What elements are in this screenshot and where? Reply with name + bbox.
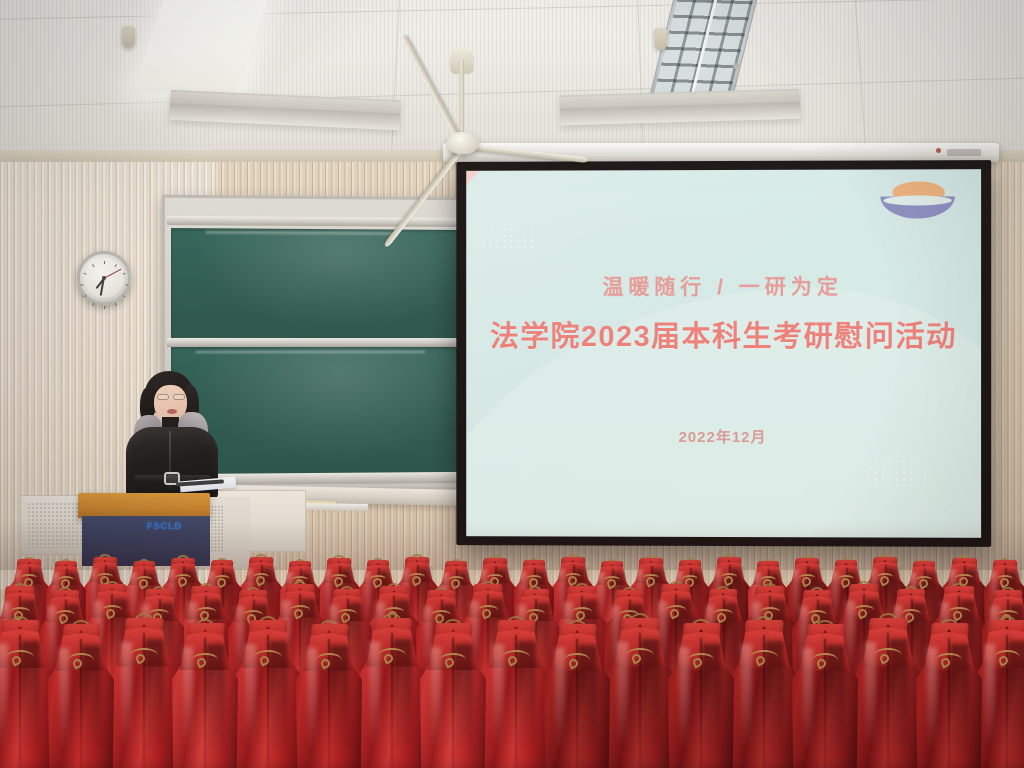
gift-bag xyxy=(296,630,362,768)
gift-bag-highlight xyxy=(679,647,690,750)
gift-bag xyxy=(792,630,858,768)
gift-bag xyxy=(606,624,674,768)
gift-bag xyxy=(854,624,922,768)
presentation-slide: 温暖随行 / 一研为定 法学院2023届本科生考研慰问活动 2022年12月 xyxy=(466,169,981,538)
sprinkler-head-icon xyxy=(733,63,739,69)
gift-bag xyxy=(234,626,302,768)
clock-tick xyxy=(125,285,128,286)
slide-date: 2022年12月 xyxy=(466,426,981,448)
gift-bag xyxy=(730,626,798,768)
gift-bag-highlight xyxy=(431,647,442,750)
gift-bag-highlight xyxy=(183,647,194,750)
gift-bag-display xyxy=(0,520,1024,768)
wall-clock xyxy=(77,251,131,305)
blackboard-rail xyxy=(167,338,466,347)
ceiling-speaker xyxy=(654,28,667,50)
status-dot xyxy=(936,148,941,153)
presenter-glasses-right xyxy=(173,394,185,400)
gift-bag xyxy=(420,629,486,768)
gift-bag-highlight xyxy=(927,647,938,750)
slide-dot-pattern xyxy=(865,458,927,488)
slide-subtitle: 温暖随行 / 一研为定 xyxy=(466,271,981,302)
gift-bag xyxy=(172,629,238,768)
clock-second-hand xyxy=(104,269,121,279)
chalk-dust-smudge xyxy=(195,351,425,353)
gift-bag xyxy=(482,626,550,768)
clock-tick xyxy=(104,261,105,264)
gift-bag-highlight xyxy=(555,648,566,750)
clock-tick xyxy=(122,273,125,275)
podium-top-surface xyxy=(78,493,210,518)
gift-bag xyxy=(358,624,426,768)
clock-tick xyxy=(104,306,105,309)
gift-bag xyxy=(110,624,178,768)
slide-dot-pattern xyxy=(480,226,536,250)
clock-tick xyxy=(80,285,83,286)
gift-bag xyxy=(668,629,734,768)
blackboard-rail xyxy=(167,216,466,227)
clock-tick xyxy=(92,264,94,267)
gift-bag-highlight xyxy=(803,648,814,750)
fan-downrod xyxy=(459,60,464,132)
presenter-glasses-left xyxy=(157,394,169,400)
ceiling-fan-hub xyxy=(447,132,479,154)
gift-bag xyxy=(916,629,982,768)
gift-bag-highlight xyxy=(307,648,318,750)
clock-face xyxy=(84,258,124,298)
clock-center-pin xyxy=(102,276,106,280)
slide-title: 法学院2023届本科生考研慰问活动 xyxy=(466,313,981,355)
gift-bag xyxy=(544,630,610,768)
ceiling-speaker xyxy=(122,26,135,48)
housing-brand-mark xyxy=(947,149,981,156)
projection-screen: 温暖随行 / 一研为定 法学院2023届本科生考研慰问活动 2022年12月 xyxy=(456,160,991,547)
gift-bag-highlight xyxy=(985,644,996,749)
gift-bag xyxy=(0,626,54,768)
gift-bag xyxy=(48,630,114,768)
clock-tick xyxy=(83,273,86,275)
clock-tick xyxy=(122,295,125,297)
clock-tick xyxy=(114,264,116,267)
gift-bag-highlight xyxy=(59,648,70,750)
clock-tick xyxy=(83,295,86,297)
blackboard-panel-upper xyxy=(171,228,462,339)
presenter-mouth xyxy=(167,409,177,414)
sun-over-water-logo xyxy=(880,179,954,225)
classroom-photo-scene: 温暖随行 / 一研为定 法学院2023届本科生考研慰问活动 2022年12月 F… xyxy=(0,0,1024,768)
